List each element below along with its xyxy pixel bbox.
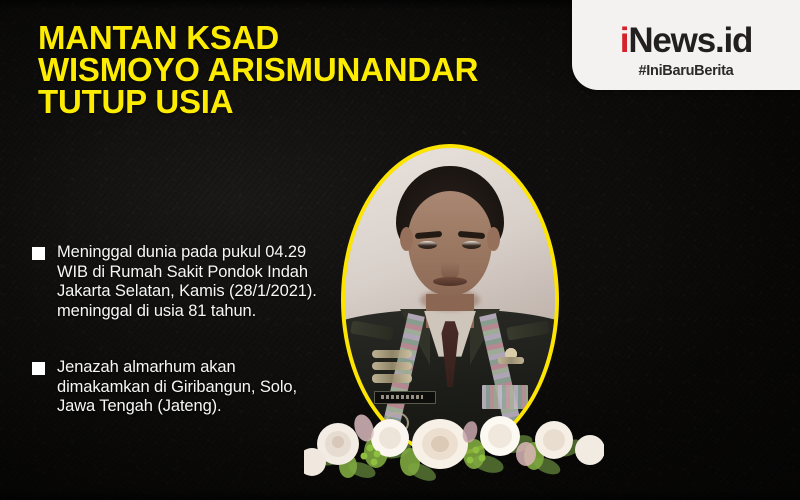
- uniform-nameplate: [374, 391, 436, 404]
- mouth: [433, 277, 467, 286]
- bottom-edge-shade: [0, 490, 800, 500]
- square-bullet-icon: [32, 247, 45, 260]
- insignia-wing-3: [372, 374, 412, 383]
- list-item: Meninggal dunia pada pukul 04.29 WIB di …: [32, 243, 332, 321]
- list-item-text: Jenazah almarhum akan dimakamkan di Giri…: [57, 358, 332, 417]
- fact-list: Meninggal dunia pada pukul 04.29 WIB di …: [32, 243, 332, 417]
- chin-shadow: [420, 289, 480, 311]
- headline-line-2: WISMOYO ARISMUNANDAR: [38, 54, 558, 86]
- headline-line-3: TUTUP USIA: [38, 86, 558, 118]
- list-item-text: Meninggal dunia pada pukul 04.29 WIB di …: [57, 243, 332, 321]
- insignia-wing-2: [372, 362, 412, 370]
- medal-right: [498, 343, 524, 365]
- page-title: MANTAN KSAD WISMOYO ARISMUNANDAR TUTUP U…: [38, 22, 558, 118]
- eye-left: [418, 241, 437, 249]
- brand-name-rest: News.id: [628, 21, 752, 60]
- brand-logo-panel[interactable]: iNews.id #IniBaruBerita: [572, 0, 800, 90]
- square-bullet-icon: [32, 362, 45, 375]
- portrait: [341, 144, 559, 456]
- eye-right: [462, 241, 481, 249]
- insignia-wing-1: [372, 350, 412, 358]
- ear-right: [487, 227, 500, 251]
- brand-wordmark: iNews.id: [620, 23, 752, 58]
- ear-left: [400, 227, 413, 251]
- list-item: Jenazah almarhum akan dimakamkan di Giri…: [32, 358, 332, 417]
- ribbon-bar: [482, 385, 528, 409]
- brand-tagline: #IniBaruBerita: [639, 64, 734, 79]
- infographic-card: iNews.id #IniBaruBerita MANTAN KSAD WISM…: [0, 0, 800, 500]
- portrait-oval-frame: [341, 144, 559, 456]
- headline-line-1: MANTAN KSAD: [38, 22, 558, 54]
